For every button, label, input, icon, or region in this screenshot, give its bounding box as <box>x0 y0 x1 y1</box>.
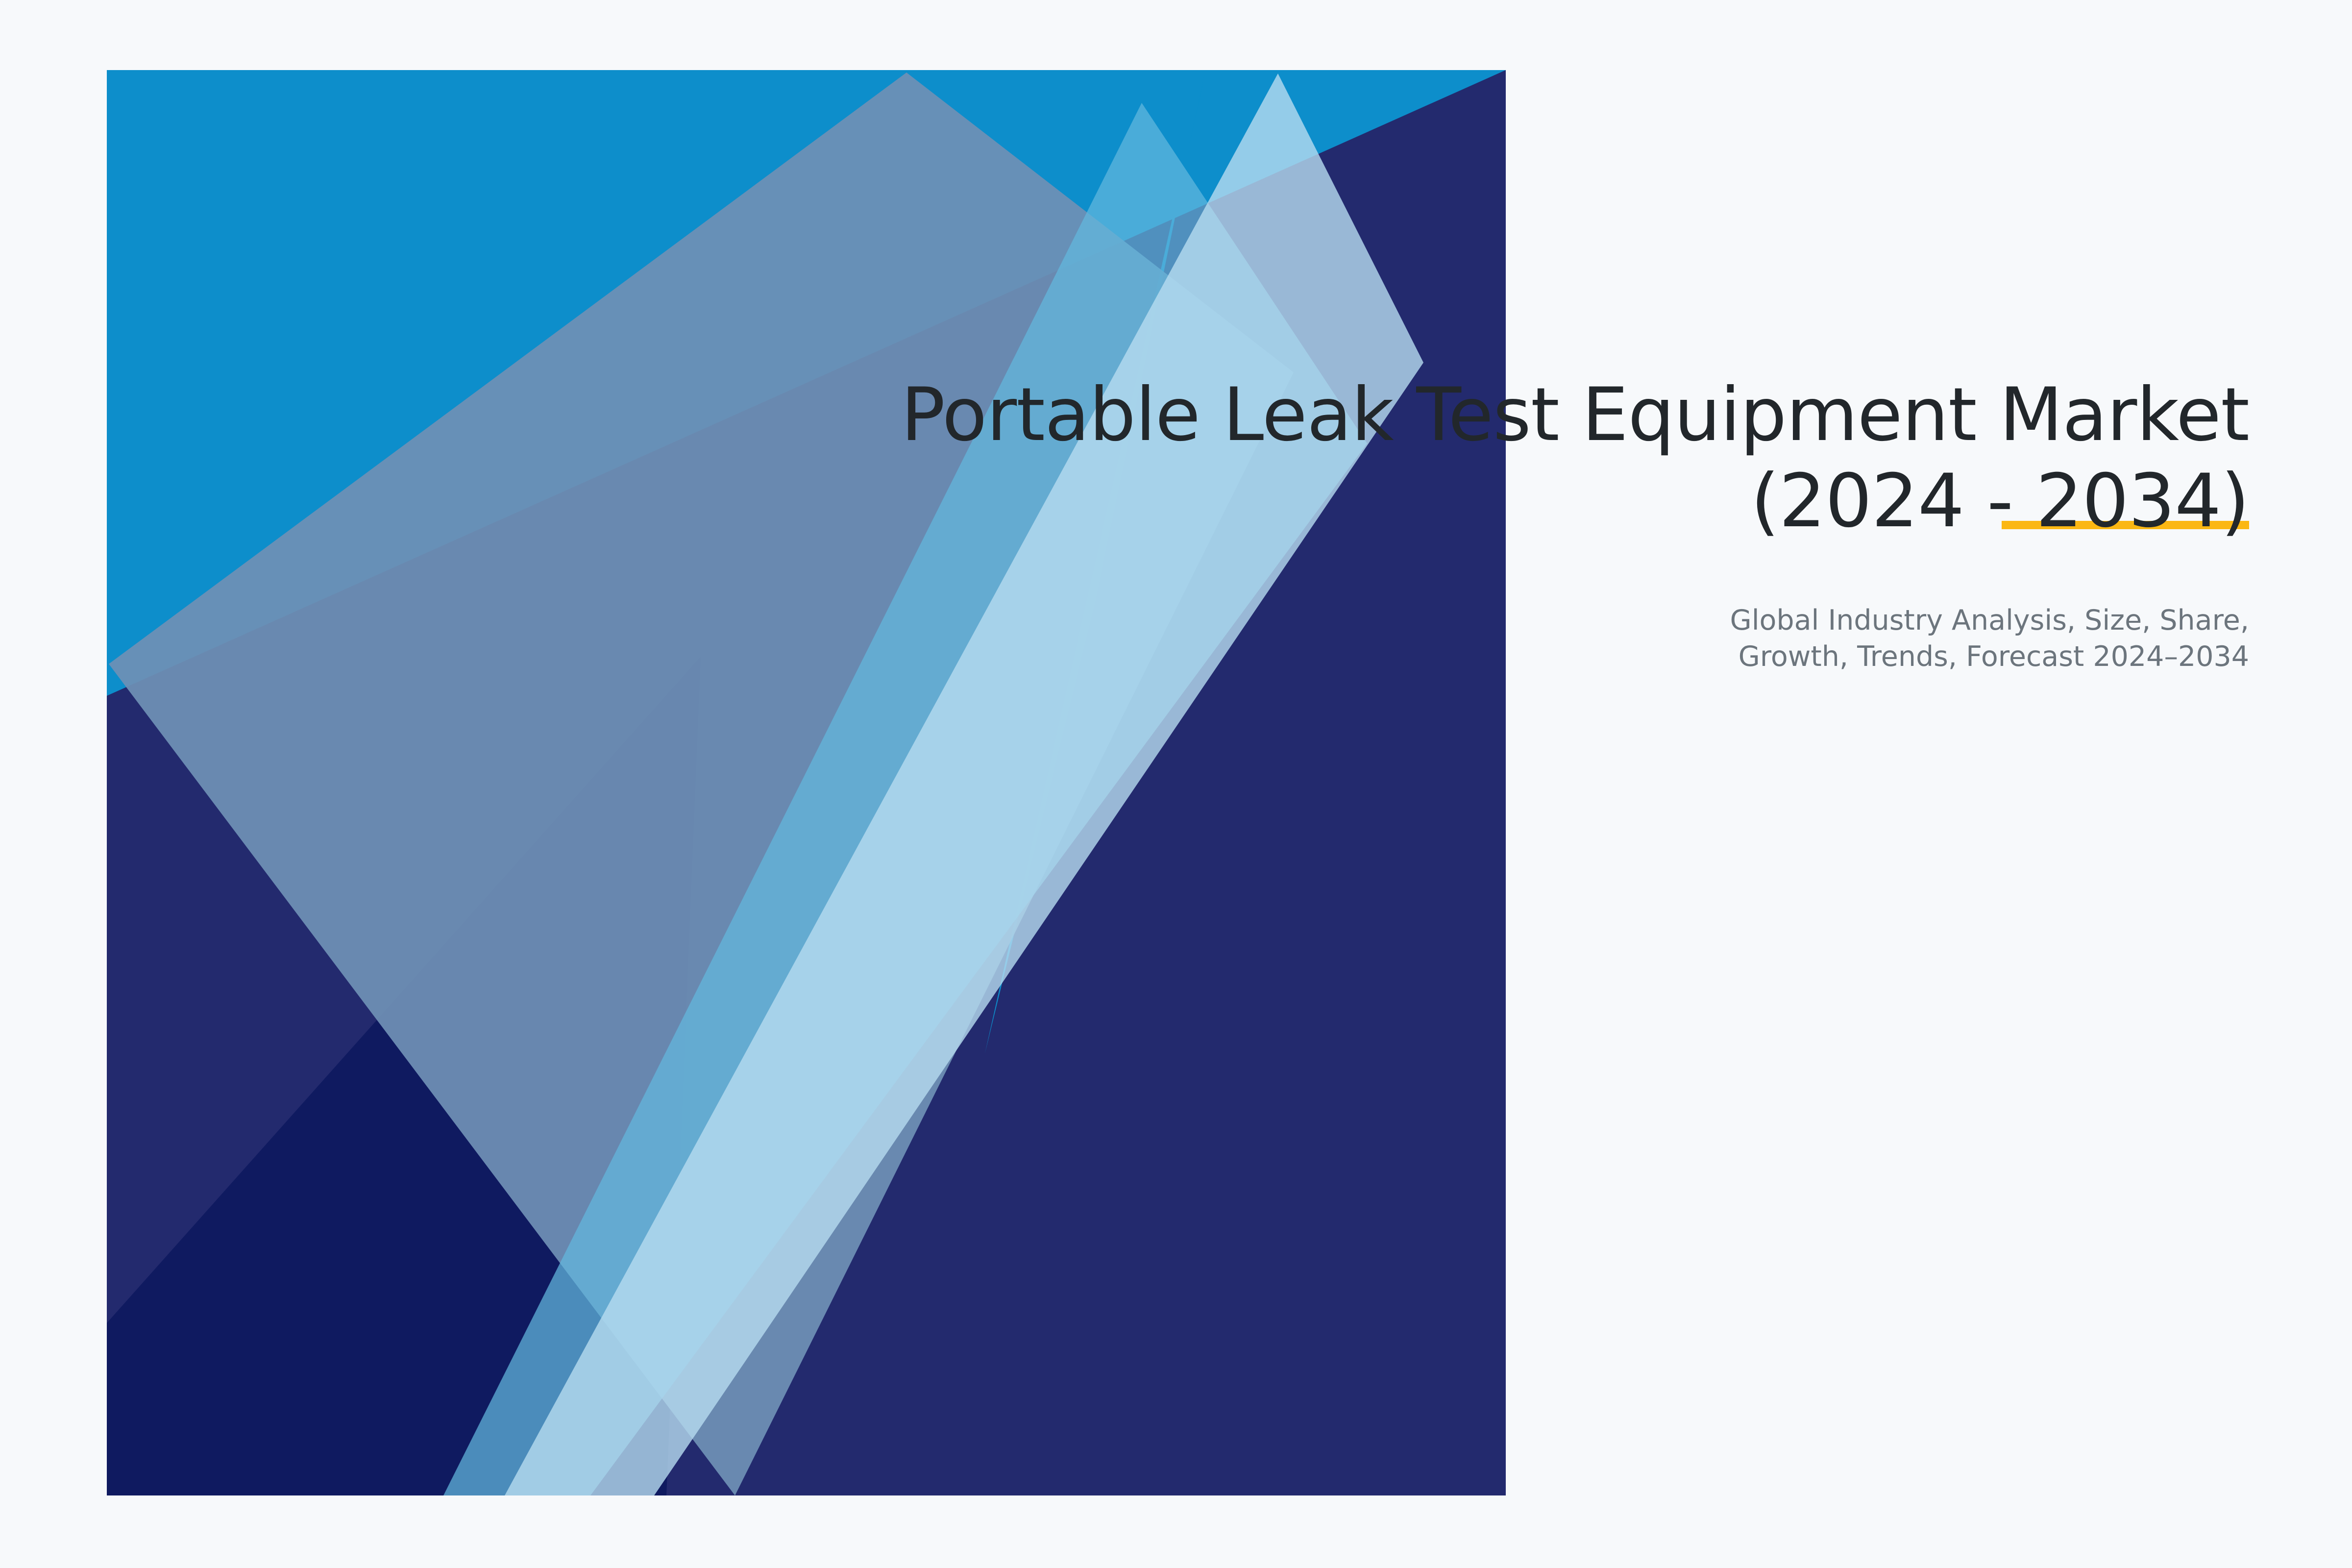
title-line-2: (2024 - 2034) <box>833 459 2249 545</box>
cover-text-block: Portable Leak Test Equipment Market (202… <box>833 372 2249 675</box>
page-title: Portable Leak Test Equipment Market (202… <box>833 372 2249 544</box>
cover-artwork <box>0 0 2352 1568</box>
title-line-1: Portable Leak Test Equipment Market <box>833 372 2249 459</box>
page-subtitle: Global Industry Analysis, Size, Share, G… <box>833 544 2249 675</box>
subtitle-line-1: Global Industry Analysis, Size, Share, <box>833 602 2249 638</box>
subtitle-line-2: Growth, Trends, Forecast 2024–2034 <box>833 638 2249 675</box>
report-cover-page: Portable Leak Test Equipment Market (202… <box>0 0 2352 1568</box>
